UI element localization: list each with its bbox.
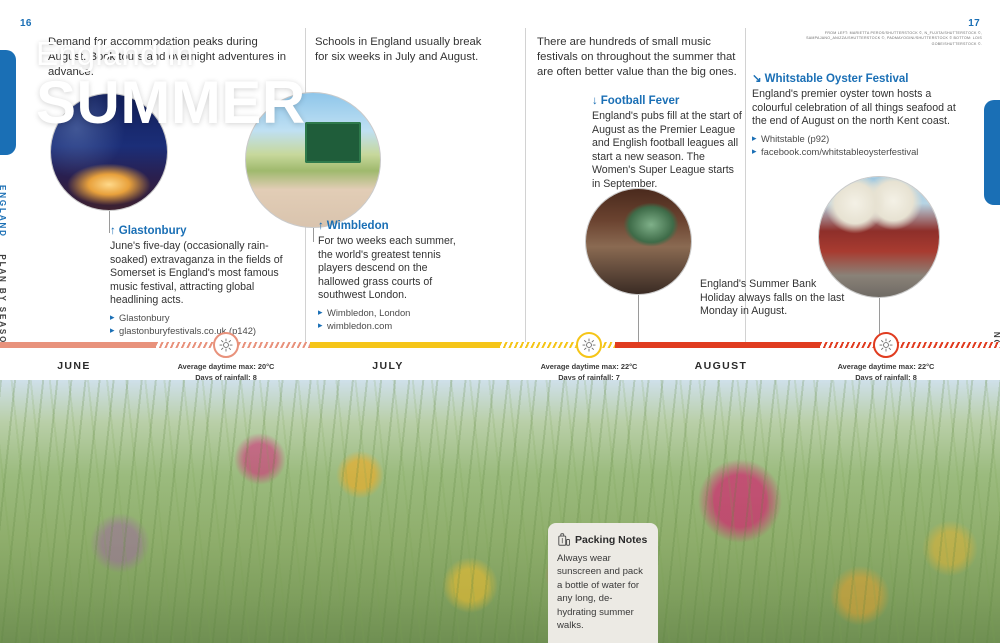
- timeline-segment-august-solid: [615, 342, 820, 348]
- month-label-august: AUGUST: [695, 360, 748, 372]
- link-item[interactable]: Whitstable (p92): [752, 132, 967, 145]
- month-label-july: JULY: [372, 360, 403, 372]
- hero-title-line2: SUMMER: [36, 72, 306, 134]
- caption-wimbledon-heading: ↑Wimbledon: [318, 220, 458, 232]
- caption-football-title: Football Fever: [601, 95, 680, 107]
- arrow-up-icon: ↑: [318, 220, 324, 232]
- caption-wimbledon-body: For two weeks each summer, the world's g…: [318, 235, 458, 303]
- packing-notes-title: Packing Notes: [575, 534, 647, 546]
- link-item[interactable]: Wimbledon, London: [318, 306, 458, 319]
- caption-whitstable-title: Whitstable Oyster Festival: [765, 73, 909, 85]
- timeline-segment-july-solid: [310, 342, 500, 348]
- luggage-icon: [557, 532, 571, 547]
- season-timeline: JUNE JULY AUGUST Average daytime max: 20…: [0, 340, 1000, 350]
- column-rule-2: [525, 28, 526, 343]
- packing-notes-header: Packing Notes: [557, 532, 649, 547]
- hero-title-line1: England in: [36, 36, 306, 72]
- side-tab-left-primary: ENGLAND: [0, 185, 7, 238]
- caption-football: ↓Football Fever England's pubs fill at t…: [592, 95, 742, 192]
- connector-football: [638, 295, 639, 343]
- caption-football-body: England's pubs fill at the start of Augu…: [592, 110, 742, 192]
- caption-glastonbury: ↑Glastonbury June's five-day (occasional…: [110, 225, 305, 337]
- stats-june-avgmax: Average daytime max: 20°C: [178, 362, 275, 373]
- photo-credits: FROM LEFT: MARIETTA PEROS/SHUTTERSTOCK ©…: [767, 31, 982, 47]
- caption-whitstable: ↘Whitstable Oyster Festival England's pr…: [752, 71, 967, 158]
- photo-football: [585, 188, 692, 295]
- link-item[interactable]: wimbledon.com: [318, 319, 458, 332]
- sun-icon: [582, 338, 596, 352]
- caption-football-heading: ↓Football Fever: [592, 95, 742, 107]
- magazine-spread: 16 17 ENGLAND PLAN BY SEASON ENGLAND PLA…: [0, 0, 1000, 643]
- sun-icon: [879, 338, 893, 352]
- caption-wimbledon: ↑Wimbledon For two weeks each summer, th…: [318, 220, 458, 332]
- packing-notes-body: Always wear sunscreen and pack a bottle …: [557, 552, 649, 632]
- arrow-down-icon: ↓: [592, 95, 598, 107]
- hero-wildflower-photo: [0, 380, 1000, 643]
- hero-title: England in SUMMER: [36, 36, 306, 134]
- intro-festivals: There are hundreds of small music festiv…: [537, 35, 747, 80]
- caption-wimbledon-links: Wimbledon, London wimbledon.com: [318, 306, 458, 332]
- caption-whitstable-heading: ↘Whitstable Oyster Festival: [752, 71, 967, 85]
- sun-marker-august: [873, 332, 899, 358]
- caption-glastonbury-body: June's five-day (occasionally rain-soake…: [110, 240, 305, 308]
- sun-marker-june: [213, 332, 239, 358]
- month-label-june: JUNE: [57, 360, 91, 372]
- caption-glastonbury-links: Glastonbury glastonburyfestivals.co.uk (…: [110, 311, 305, 337]
- link-item[interactable]: facebook.com/whitstableoysterfestival: [752, 145, 967, 158]
- link-item[interactable]: Glastonbury: [110, 311, 305, 324]
- link-item[interactable]: glastonburyfestivals.co.uk (p142): [110, 324, 305, 337]
- caption-whitstable-body: England's premier oyster town hosts a co…: [752, 88, 967, 129]
- side-tab-left: ENGLAND PLAN BY SEASON: [0, 185, 7, 344]
- sun-icon: [219, 338, 233, 352]
- arrow-up-icon: ↑: [110, 225, 116, 237]
- stats-july-avgmax: Average daytime max: 22°C: [541, 362, 638, 373]
- packing-notes-card: Packing Notes Always wear sunscreen and …: [548, 523, 658, 643]
- side-tab-nub-left: [0, 50, 16, 155]
- side-tab-nub-right: [984, 100, 1000, 205]
- side-tab-left-secondary: PLAN BY SEASON: [0, 254, 7, 344]
- caption-glastonbury-title: Glastonbury: [119, 225, 187, 237]
- timeline-segment-june-solid: [0, 342, 156, 348]
- intro-schools: Schools in England usually break for six…: [315, 35, 485, 65]
- connector-wimbledon: [313, 228, 314, 242]
- timeline-segment-august-hatch: [820, 342, 1000, 348]
- caption-wimbledon-title: Wimbledon: [327, 220, 389, 232]
- caption-whitstable-links: Whitstable (p92) facebook.com/whitstable…: [752, 132, 967, 158]
- folio-left: 16: [20, 18, 32, 29]
- stats-august-avgmax: Average daytime max: 22°C: [838, 362, 935, 373]
- arrow-down-right-icon: ↘: [752, 71, 762, 85]
- folio-right: 17: [968, 18, 980, 29]
- sun-marker-july: [576, 332, 602, 358]
- photo-football-image: [586, 189, 691, 294]
- note-bank-holiday: England's Summer Bank Holiday always fal…: [700, 278, 845, 319]
